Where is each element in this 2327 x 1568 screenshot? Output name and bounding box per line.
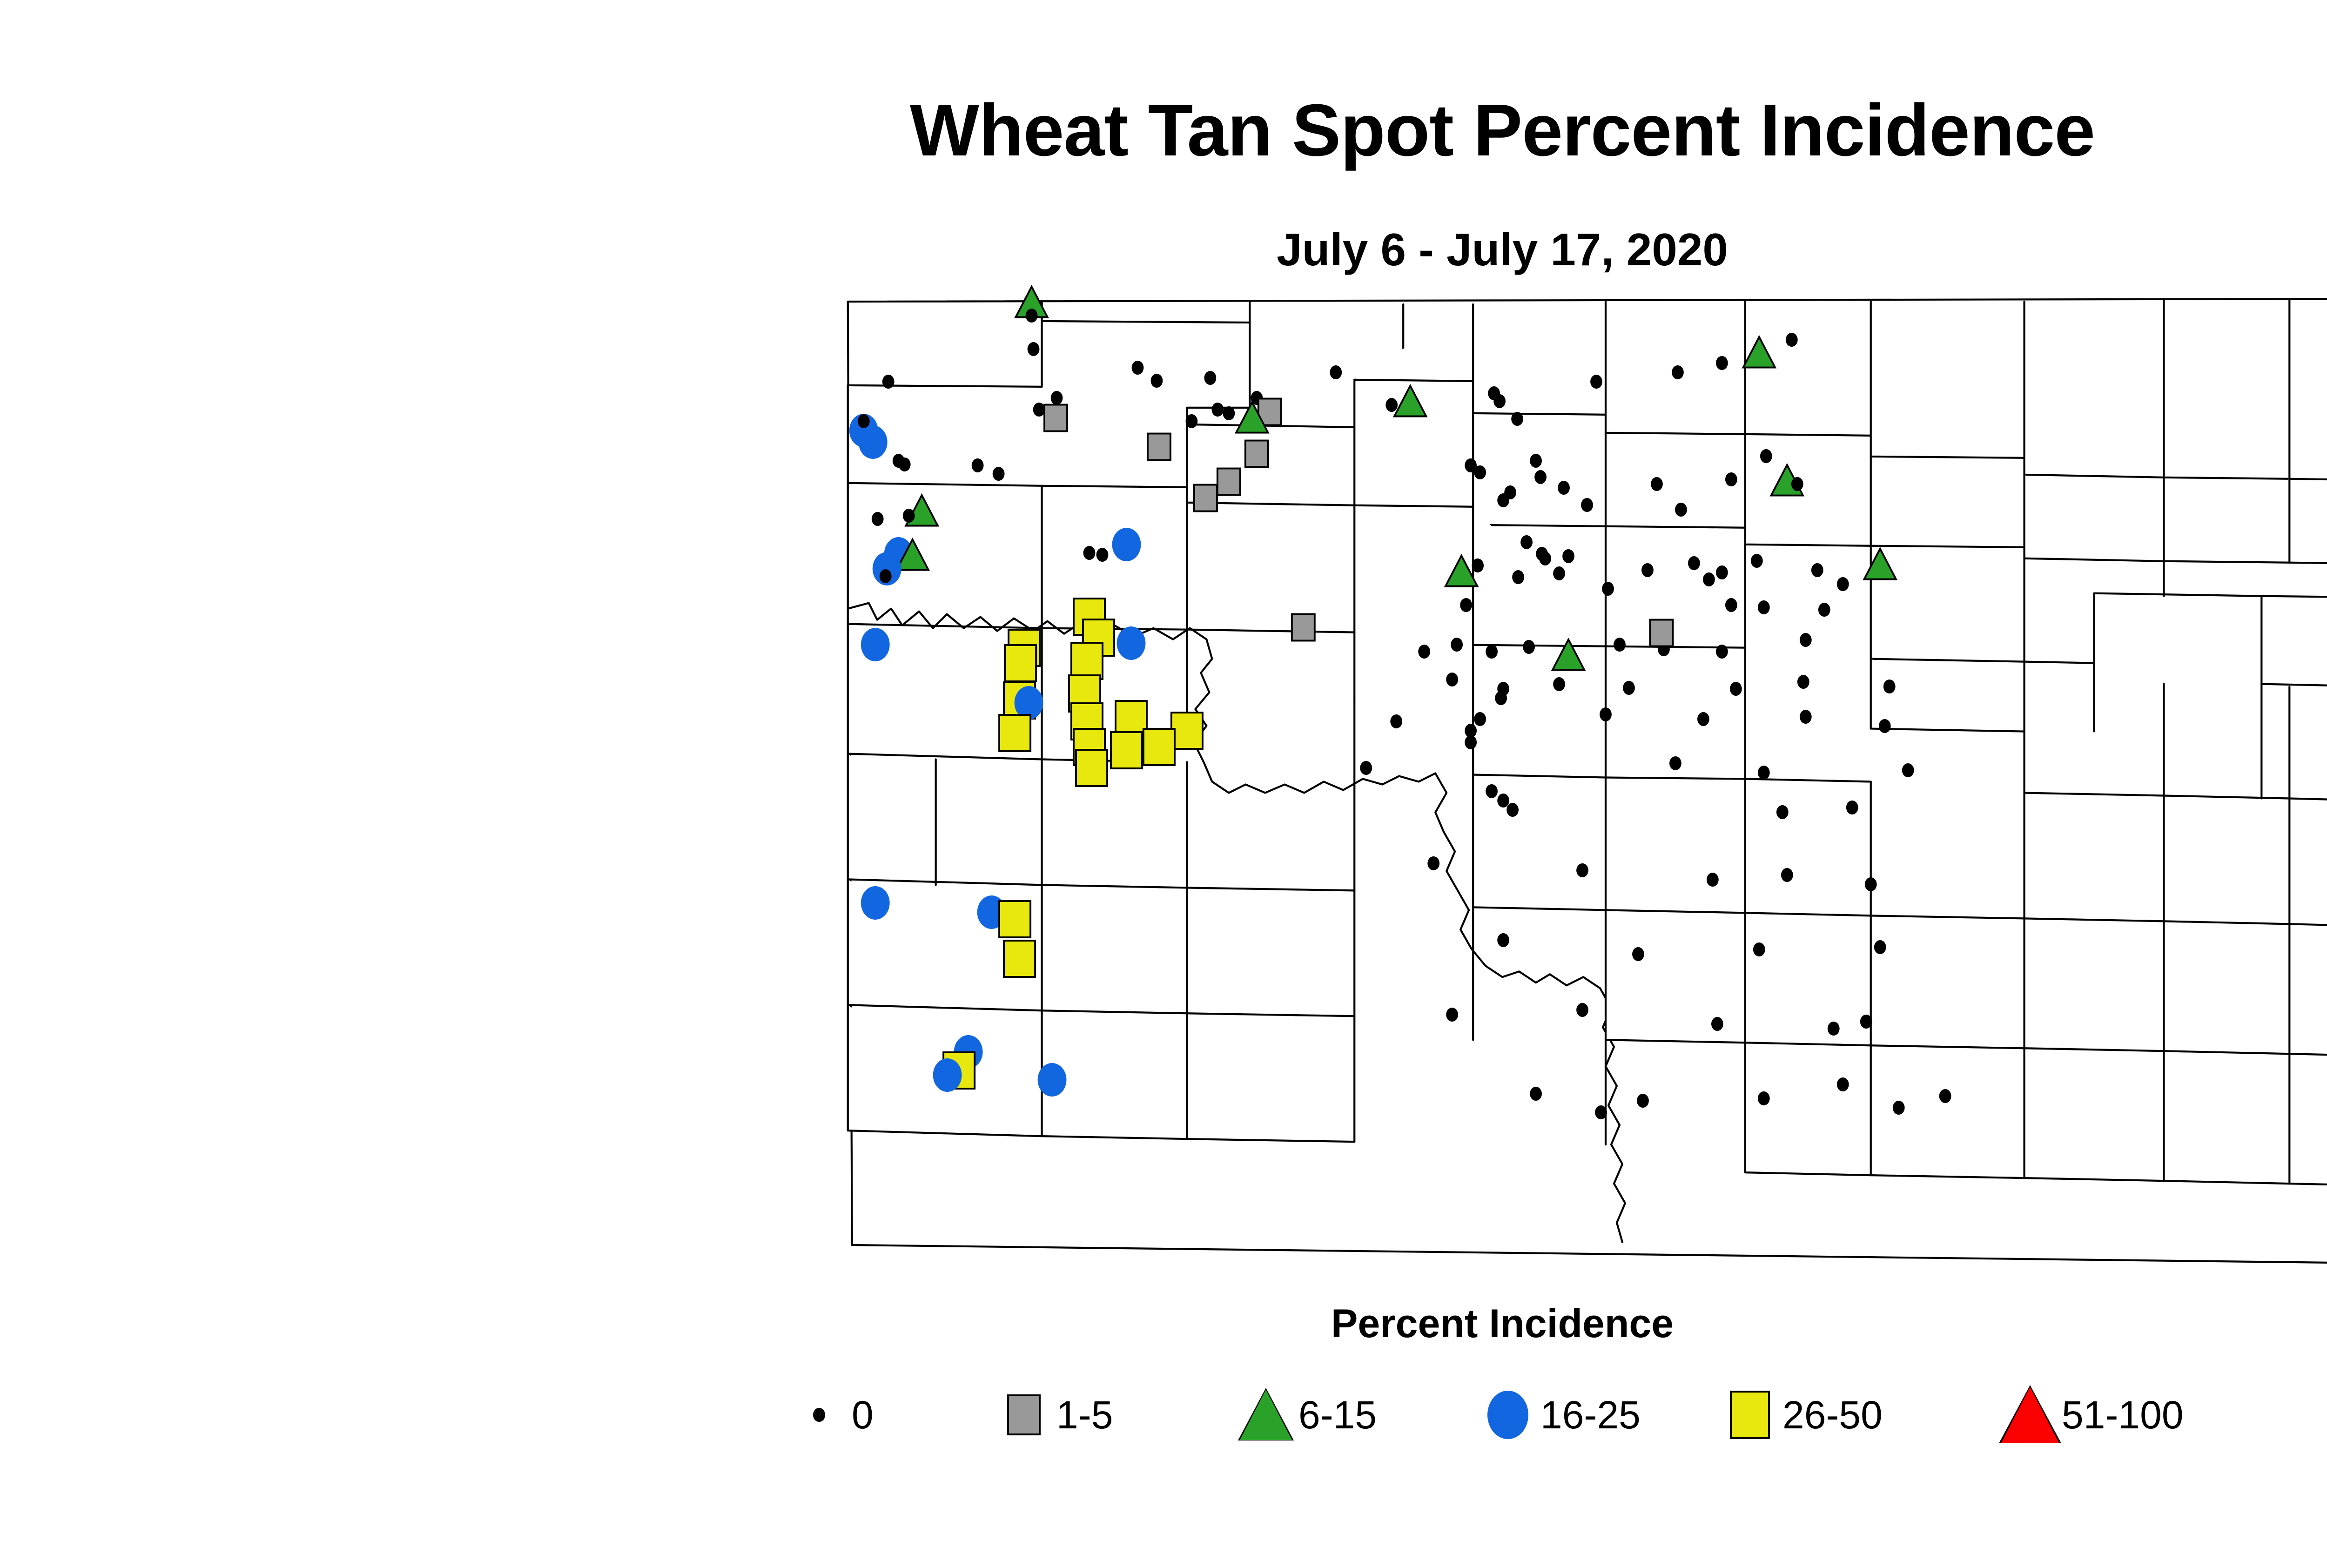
map-marker-0 xyxy=(1520,535,1533,549)
legend-item-6-15[interactable]: 6-15 xyxy=(1238,1375,1377,1454)
map-marker-0 xyxy=(1786,333,1798,347)
map-marker-0 xyxy=(1716,565,1728,579)
map-marker-0 xyxy=(1511,412,1523,426)
map-marker-26-50 xyxy=(999,715,1030,751)
map-marker-0 xyxy=(1595,1105,1607,1119)
map-marker-26-50 xyxy=(1071,643,1103,679)
map-marker-16-25 xyxy=(1112,528,1141,561)
map-marker-0 xyxy=(1360,761,1372,775)
map-marker-16-25 xyxy=(1038,1063,1067,1097)
map-marker-0 xyxy=(1204,371,1217,385)
north-dakota-county-map xyxy=(768,279,2327,1280)
map-marker-0 xyxy=(1497,493,1509,507)
map-marker-0 xyxy=(1651,477,1663,491)
map-marker-0 xyxy=(903,509,915,523)
map-marker-0 xyxy=(1026,309,1038,323)
map-marker-0 xyxy=(1641,563,1654,577)
square-icon xyxy=(1722,1387,1778,1443)
page-subtitle: July 6 - July 17, 2020 xyxy=(0,223,2327,276)
map-marker-0 xyxy=(1096,548,1109,562)
map-marker-0 xyxy=(972,458,984,472)
map-marker-0 xyxy=(1776,805,1789,819)
map-marker-0 xyxy=(1902,763,1914,777)
map-marker-0 xyxy=(1472,559,1484,572)
map-marker-0 xyxy=(1427,856,1439,870)
county-line xyxy=(1606,526,1745,528)
map-marker-0 xyxy=(1632,947,1644,961)
map-marker-0 xyxy=(1562,549,1574,563)
county-line xyxy=(848,385,1042,387)
map-marker-26-50 xyxy=(999,901,1030,937)
map-marker-0 xyxy=(1758,1091,1770,1105)
map-marker-0 xyxy=(1576,1003,1588,1017)
map-marker-0 xyxy=(1800,710,1812,724)
triangle-icon xyxy=(2001,1387,2057,1443)
county-line xyxy=(1042,486,1187,487)
map-marker-0 xyxy=(1725,472,1737,486)
map-marker-0 xyxy=(1879,719,1891,733)
map-marker-0 xyxy=(1730,682,1742,696)
map-marker-0 xyxy=(1028,342,1040,356)
map-marker-0 xyxy=(1753,942,1765,956)
map-marker-0 xyxy=(1669,756,1681,770)
map-marker-0 xyxy=(1493,394,1506,408)
legend-label: 51-100 xyxy=(2062,1393,2184,1438)
map-marker-16-25 xyxy=(1117,626,1146,660)
map-marker-0 xyxy=(1781,868,1793,882)
map-marker-16-25 xyxy=(933,1058,962,1092)
map-marker-0 xyxy=(1446,673,1458,686)
map-marker-0 xyxy=(1837,577,1849,591)
map-marker-0 xyxy=(1707,873,1719,887)
legend-label: 16-25 xyxy=(1540,1393,1641,1438)
map-marker-0 xyxy=(882,375,894,389)
map-page: Wheat Tan Spot Percent Incidence July 6 … xyxy=(0,0,2327,1568)
map-marker-0 xyxy=(1865,877,1877,891)
legend-label: 0 xyxy=(852,1393,874,1438)
map-marker-0 xyxy=(1495,691,1507,705)
map-marker-1-5 xyxy=(1650,620,1673,646)
map-marker-0 xyxy=(1818,603,1830,617)
map-marker-0 xyxy=(1760,449,1772,463)
map-marker-0 xyxy=(1688,556,1700,570)
legend-item-0[interactable]: 0 xyxy=(791,1375,874,1454)
map-marker-0 xyxy=(880,569,892,583)
map-marker-16-25 xyxy=(861,886,890,920)
legend-item-1-5[interactable]: 1-5 xyxy=(996,1375,1113,1454)
map-marker-0 xyxy=(1497,794,1509,808)
map-marker-0 xyxy=(1672,365,1684,379)
map-marker-0 xyxy=(1451,638,1463,652)
circle-icon xyxy=(1480,1387,1536,1443)
map-marker-0 xyxy=(1614,638,1626,652)
legend-label: 6-15 xyxy=(1298,1393,1377,1438)
map-marker-0 xyxy=(1581,498,1593,512)
map-marker-0 xyxy=(1576,863,1588,877)
map-marker-26-50 xyxy=(1076,750,1107,786)
map-marker-0 xyxy=(1385,398,1398,412)
map-marker-0 xyxy=(858,414,870,428)
map-marker-0 xyxy=(1486,784,1498,798)
map-marker-16-25 xyxy=(861,628,890,661)
legend-item-26-50[interactable]: 26-50 xyxy=(1722,1375,1883,1454)
map-marker-1-5 xyxy=(1292,614,1315,641)
map-marker-0 xyxy=(1716,356,1728,370)
map-marker-0 xyxy=(1758,600,1770,614)
map-marker-26-50 xyxy=(1171,713,1203,749)
map-marker-0 xyxy=(1637,1094,1649,1108)
map-marker-1-5 xyxy=(1044,405,1067,431)
map-marker-16-25 xyxy=(859,425,888,459)
map-marker-0 xyxy=(1223,406,1235,420)
map-marker-0 xyxy=(1811,563,1823,577)
map-marker-0 xyxy=(1530,454,1542,468)
map-marker-0 xyxy=(1697,712,1709,726)
map-marker-0 xyxy=(1675,503,1687,517)
map-marker-0 xyxy=(1558,481,1570,495)
map-marker-0 xyxy=(1390,714,1402,728)
map-marker-26-50 xyxy=(1111,732,1142,768)
map-marker-0 xyxy=(1711,1017,1723,1031)
page-title: Wheat Tan Spot Percent Incidence xyxy=(0,88,2327,173)
map-marker-0 xyxy=(899,458,911,471)
county-boundaries xyxy=(848,299,2327,1263)
map-marker-0 xyxy=(1602,582,1614,596)
map-marker-1-5 xyxy=(1245,441,1268,467)
map-marker-0 xyxy=(1590,375,1602,389)
legend-label: 1-5 xyxy=(1056,1393,1113,1438)
map-marker-26-50 xyxy=(1143,729,1175,765)
legend: 01-56-1516-2526-5051-100 xyxy=(791,1375,2327,1454)
map-marker-0 xyxy=(1893,1101,1905,1115)
map-marker-0 xyxy=(1600,707,1612,721)
map-marker-0 xyxy=(1860,1015,1872,1029)
map-marker-0 xyxy=(1553,677,1565,691)
circle-small-icon xyxy=(791,1387,847,1443)
map-marker-0 xyxy=(872,512,884,526)
map-marker-0 xyxy=(1083,546,1096,560)
county-line xyxy=(1354,505,1473,507)
map-marker-0 xyxy=(1751,554,1763,568)
map-marker-0 xyxy=(1460,598,1472,612)
map-marker-0 xyxy=(1033,403,1045,417)
map-marker-0 xyxy=(1211,403,1224,417)
map-marker-0 xyxy=(1837,1077,1849,1091)
map-marker-0 xyxy=(1474,465,1486,479)
map-marker-0 xyxy=(1553,566,1565,580)
map-marker-0 xyxy=(1418,645,1430,659)
map-marker-0 xyxy=(1716,645,1728,659)
map-marker-0 xyxy=(1330,365,1342,379)
map-marker-0 xyxy=(1506,803,1519,817)
legend-title: Percent Incidence xyxy=(0,1301,2327,1347)
map-marker-26-50 xyxy=(1004,941,1035,977)
map-marker-0 xyxy=(1530,1087,1542,1101)
map-marker-0 xyxy=(1186,414,1198,428)
map-marker-0 xyxy=(1797,675,1809,689)
map-marker-0 xyxy=(1846,801,1858,814)
map-marker-0 xyxy=(1534,470,1547,484)
map-marker-0 xyxy=(1465,735,1477,749)
map-marker-26-50 xyxy=(1005,645,1036,681)
map-marker-0 xyxy=(1623,681,1635,695)
legend-item-51-100[interactable]: 51-100 xyxy=(2001,1375,2184,1454)
legend-label: 26-50 xyxy=(1782,1393,1883,1438)
map-marker-0 xyxy=(1512,570,1524,584)
legend-item-16-25[interactable]: 16-25 xyxy=(1480,1375,1641,1454)
county-line xyxy=(1871,546,2024,547)
map-marker-0 xyxy=(1703,572,1715,586)
map-marker-0 xyxy=(1446,1008,1458,1022)
map-marker-0 xyxy=(1497,933,1509,947)
map-marker-0 xyxy=(1486,645,1498,659)
triangle-icon xyxy=(1238,1387,1294,1443)
map-marker-0 xyxy=(1791,477,1803,491)
map-marker-0 xyxy=(1725,598,1737,612)
map-marker-0 xyxy=(1800,633,1812,647)
map-marker-1-5 xyxy=(1217,469,1240,495)
map-marker-0 xyxy=(1939,1089,1951,1103)
county-line xyxy=(1606,778,1745,779)
map-marker-0 xyxy=(1758,766,1770,780)
map-marker-0 xyxy=(1474,712,1486,726)
map-marker-0 xyxy=(993,467,1005,481)
map-marker-0 xyxy=(1828,1022,1840,1036)
map-marker-0 xyxy=(1539,552,1551,565)
map-marker-0 xyxy=(1151,374,1163,388)
square-icon xyxy=(996,1387,1052,1443)
map-marker-0 xyxy=(1051,391,1063,405)
map-marker-0 xyxy=(1883,680,1896,693)
map-marker-0 xyxy=(1523,640,1535,654)
map-marker-0 xyxy=(1132,361,1144,375)
map-marker-1-5 xyxy=(1148,434,1170,460)
map-marker-1-5 xyxy=(1194,485,1217,511)
map-marker-0 xyxy=(1874,940,1886,954)
